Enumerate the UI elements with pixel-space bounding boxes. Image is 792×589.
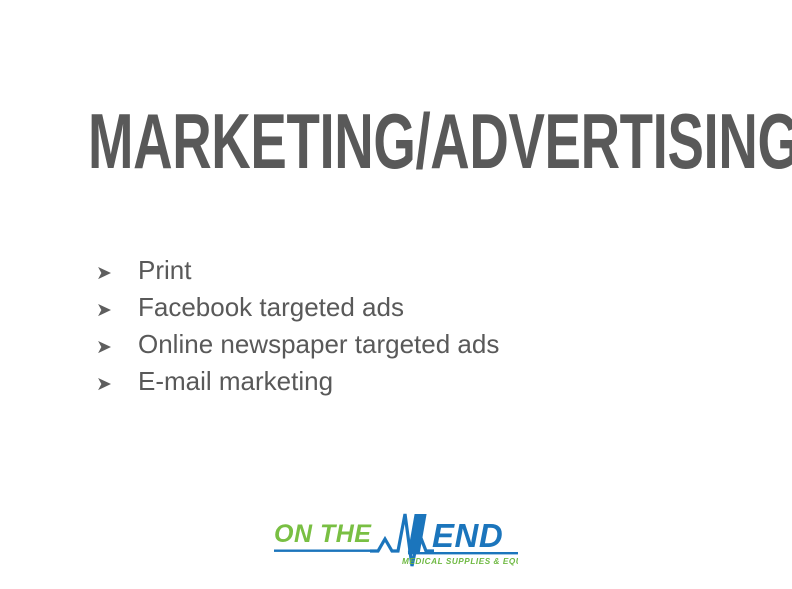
company-logo: ON THE END MEDICAL SUPPLIES & EQUIPMENT bbox=[274, 506, 518, 570]
logo-on-the-text: ON THE bbox=[274, 520, 372, 548]
list-item-label: E-mail marketing bbox=[138, 363, 333, 400]
arrow-bullet-icon: ➤ bbox=[96, 255, 138, 292]
list-item-label: Facebook targeted ads bbox=[138, 289, 404, 326]
page-title: MARKETING/ADVERTISING bbox=[88, 100, 522, 182]
arrow-bullet-icon: ➤ bbox=[96, 292, 138, 329]
logo-end-text: END bbox=[432, 517, 503, 554]
list-item: ➤ Print bbox=[96, 252, 499, 289]
bullet-list: ➤ Print ➤ Facebook targeted ads ➤ Online… bbox=[96, 252, 499, 400]
logo-underline-right bbox=[408, 552, 518, 554]
logo-tagline: MEDICAL SUPPLIES & EQUIPMENT bbox=[402, 557, 518, 566]
list-item: ➤ Online newspaper targeted ads bbox=[96, 326, 499, 363]
list-item-label: Print bbox=[138, 252, 191, 289]
list-item-label: Online newspaper targeted ads bbox=[138, 326, 499, 363]
slide-canvas: MARKETING/ADVERTISING ➤ Print ➤ Facebook… bbox=[0, 0, 792, 589]
logo-underline-left bbox=[274, 550, 376, 552]
arrow-bullet-icon: ➤ bbox=[96, 329, 138, 366]
arrow-bullet-icon: ➤ bbox=[96, 366, 138, 403]
list-item: ➤ E-mail marketing bbox=[96, 363, 499, 400]
list-item: ➤ Facebook targeted ads bbox=[96, 289, 499, 326]
